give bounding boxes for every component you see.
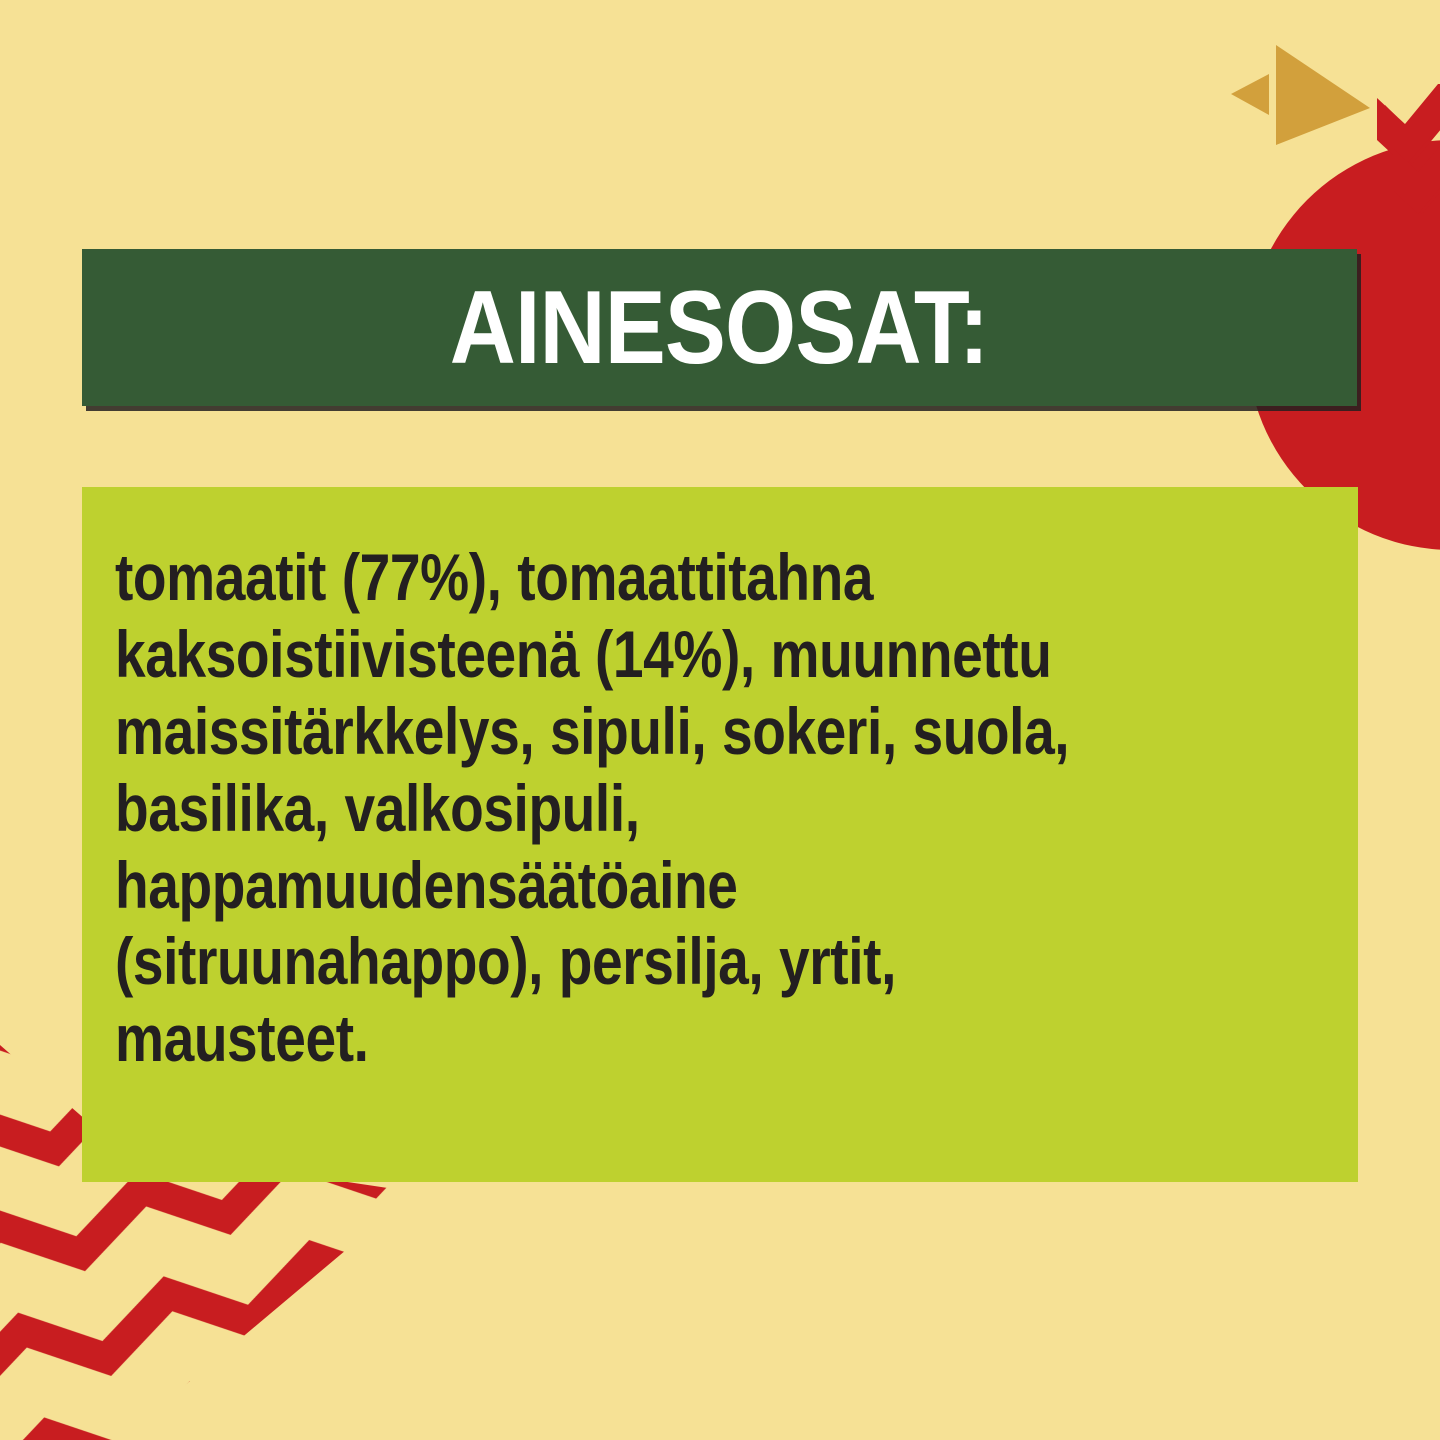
page-title: AINESOSAT: (450, 276, 989, 380)
gold-triangle-large (1276, 45, 1370, 145)
red-chevron-lower (1393, 146, 1440, 214)
gold-triangle-small (1231, 74, 1269, 115)
red-chevrons-top-right (1385, 96, 1440, 214)
poster-canvas: AINESOSAT: tomaatit (77%), tomaattitahna… (0, 0, 1440, 1440)
ingredients-text: tomaatit (77%), tomaattitahna kaksoistii… (115, 539, 1138, 1077)
header-banner: AINESOSAT: (82, 249, 1357, 406)
red-chevron-upper (1377, 84, 1440, 166)
ingredients-panel: tomaatit (77%), tomaattitahna kaksoistii… (82, 487, 1358, 1182)
